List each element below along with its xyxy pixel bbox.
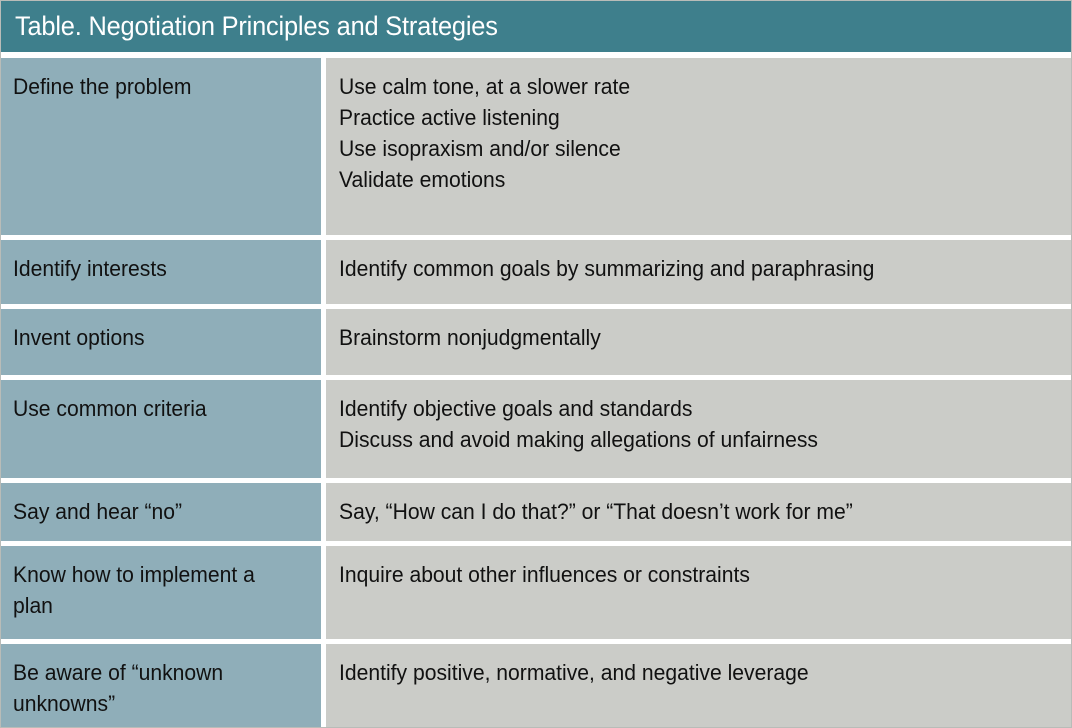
strategy-text: Identify common goals by summarizing and… (339, 253, 1032, 284)
strategy-cell: Identify positive, normative, and negati… (326, 644, 1071, 728)
negotiation-principles-table: Table. Negotiation Principles and Strate… (0, 0, 1072, 728)
principle-cell: Invent options (1, 309, 321, 375)
principle-cell: Say and hear “no” (1, 483, 321, 541)
table-row: Identify interests Identify common goals… (1, 240, 1071, 304)
strategy-text: Say, “How can I do that?” or “That doesn… (339, 496, 1032, 527)
table-row: Invent options Brainstorm nonjudgmentall… (1, 309, 1071, 375)
table-row: Say and hear “no” Say, “How can I do tha… (1, 483, 1071, 541)
strategy-cell: Identify common goals by summarizing and… (326, 240, 1071, 304)
strategy-text: Brainstorm nonjudgmentally (339, 322, 1032, 353)
principle-text: Know how to implement a plan (13, 559, 299, 621)
strategy-text: Use calm tone, at a slower rate Practice… (339, 71, 1032, 195)
principle-cell: Be aware of “unknown unknowns” (1, 644, 321, 728)
principle-text: Define the problem (13, 71, 299, 102)
principle-cell: Identify interests (1, 240, 321, 304)
principle-text: Invent options (13, 322, 299, 353)
table-row: Use common criteria Identify objective g… (1, 380, 1071, 478)
principle-text: Identify interests (13, 253, 299, 284)
strategy-text: Inquire about other influences or constr… (339, 559, 1032, 590)
strategy-cell: Inquire about other influences or constr… (326, 546, 1071, 639)
principle-cell: Use common criteria (1, 380, 321, 478)
principle-text: Be aware of “unknown unknowns” (13, 657, 299, 719)
strategy-cell: Use calm tone, at a slower rate Practice… (326, 58, 1071, 235)
table-row: Be aware of “unknown unknowns” Identify … (1, 644, 1071, 728)
principle-cell: Know how to implement a plan (1, 546, 321, 639)
table-body: Define the problem Use calm tone, at a s… (1, 52, 1071, 728)
strategy-text: Identify objective goals and standards D… (339, 393, 1032, 455)
table-row: Define the problem Use calm tone, at a s… (1, 58, 1071, 235)
strategy-cell: Brainstorm nonjudgmentally (326, 309, 1071, 375)
table-row: Know how to implement a plan Inquire abo… (1, 546, 1071, 639)
strategy-cell: Say, “How can I do that?” or “That doesn… (326, 483, 1071, 541)
principle-text: Use common criteria (13, 393, 299, 424)
principle-cell: Define the problem (1, 58, 321, 235)
table-title: Table. Negotiation Principles and Strate… (15, 13, 498, 40)
strategy-text: Identify positive, normative, and negati… (339, 657, 1032, 688)
table-header-band: Table. Negotiation Principles and Strate… (1, 1, 1071, 52)
strategy-cell: Identify objective goals and standards D… (326, 380, 1071, 478)
principle-text: Say and hear “no” (13, 496, 299, 527)
